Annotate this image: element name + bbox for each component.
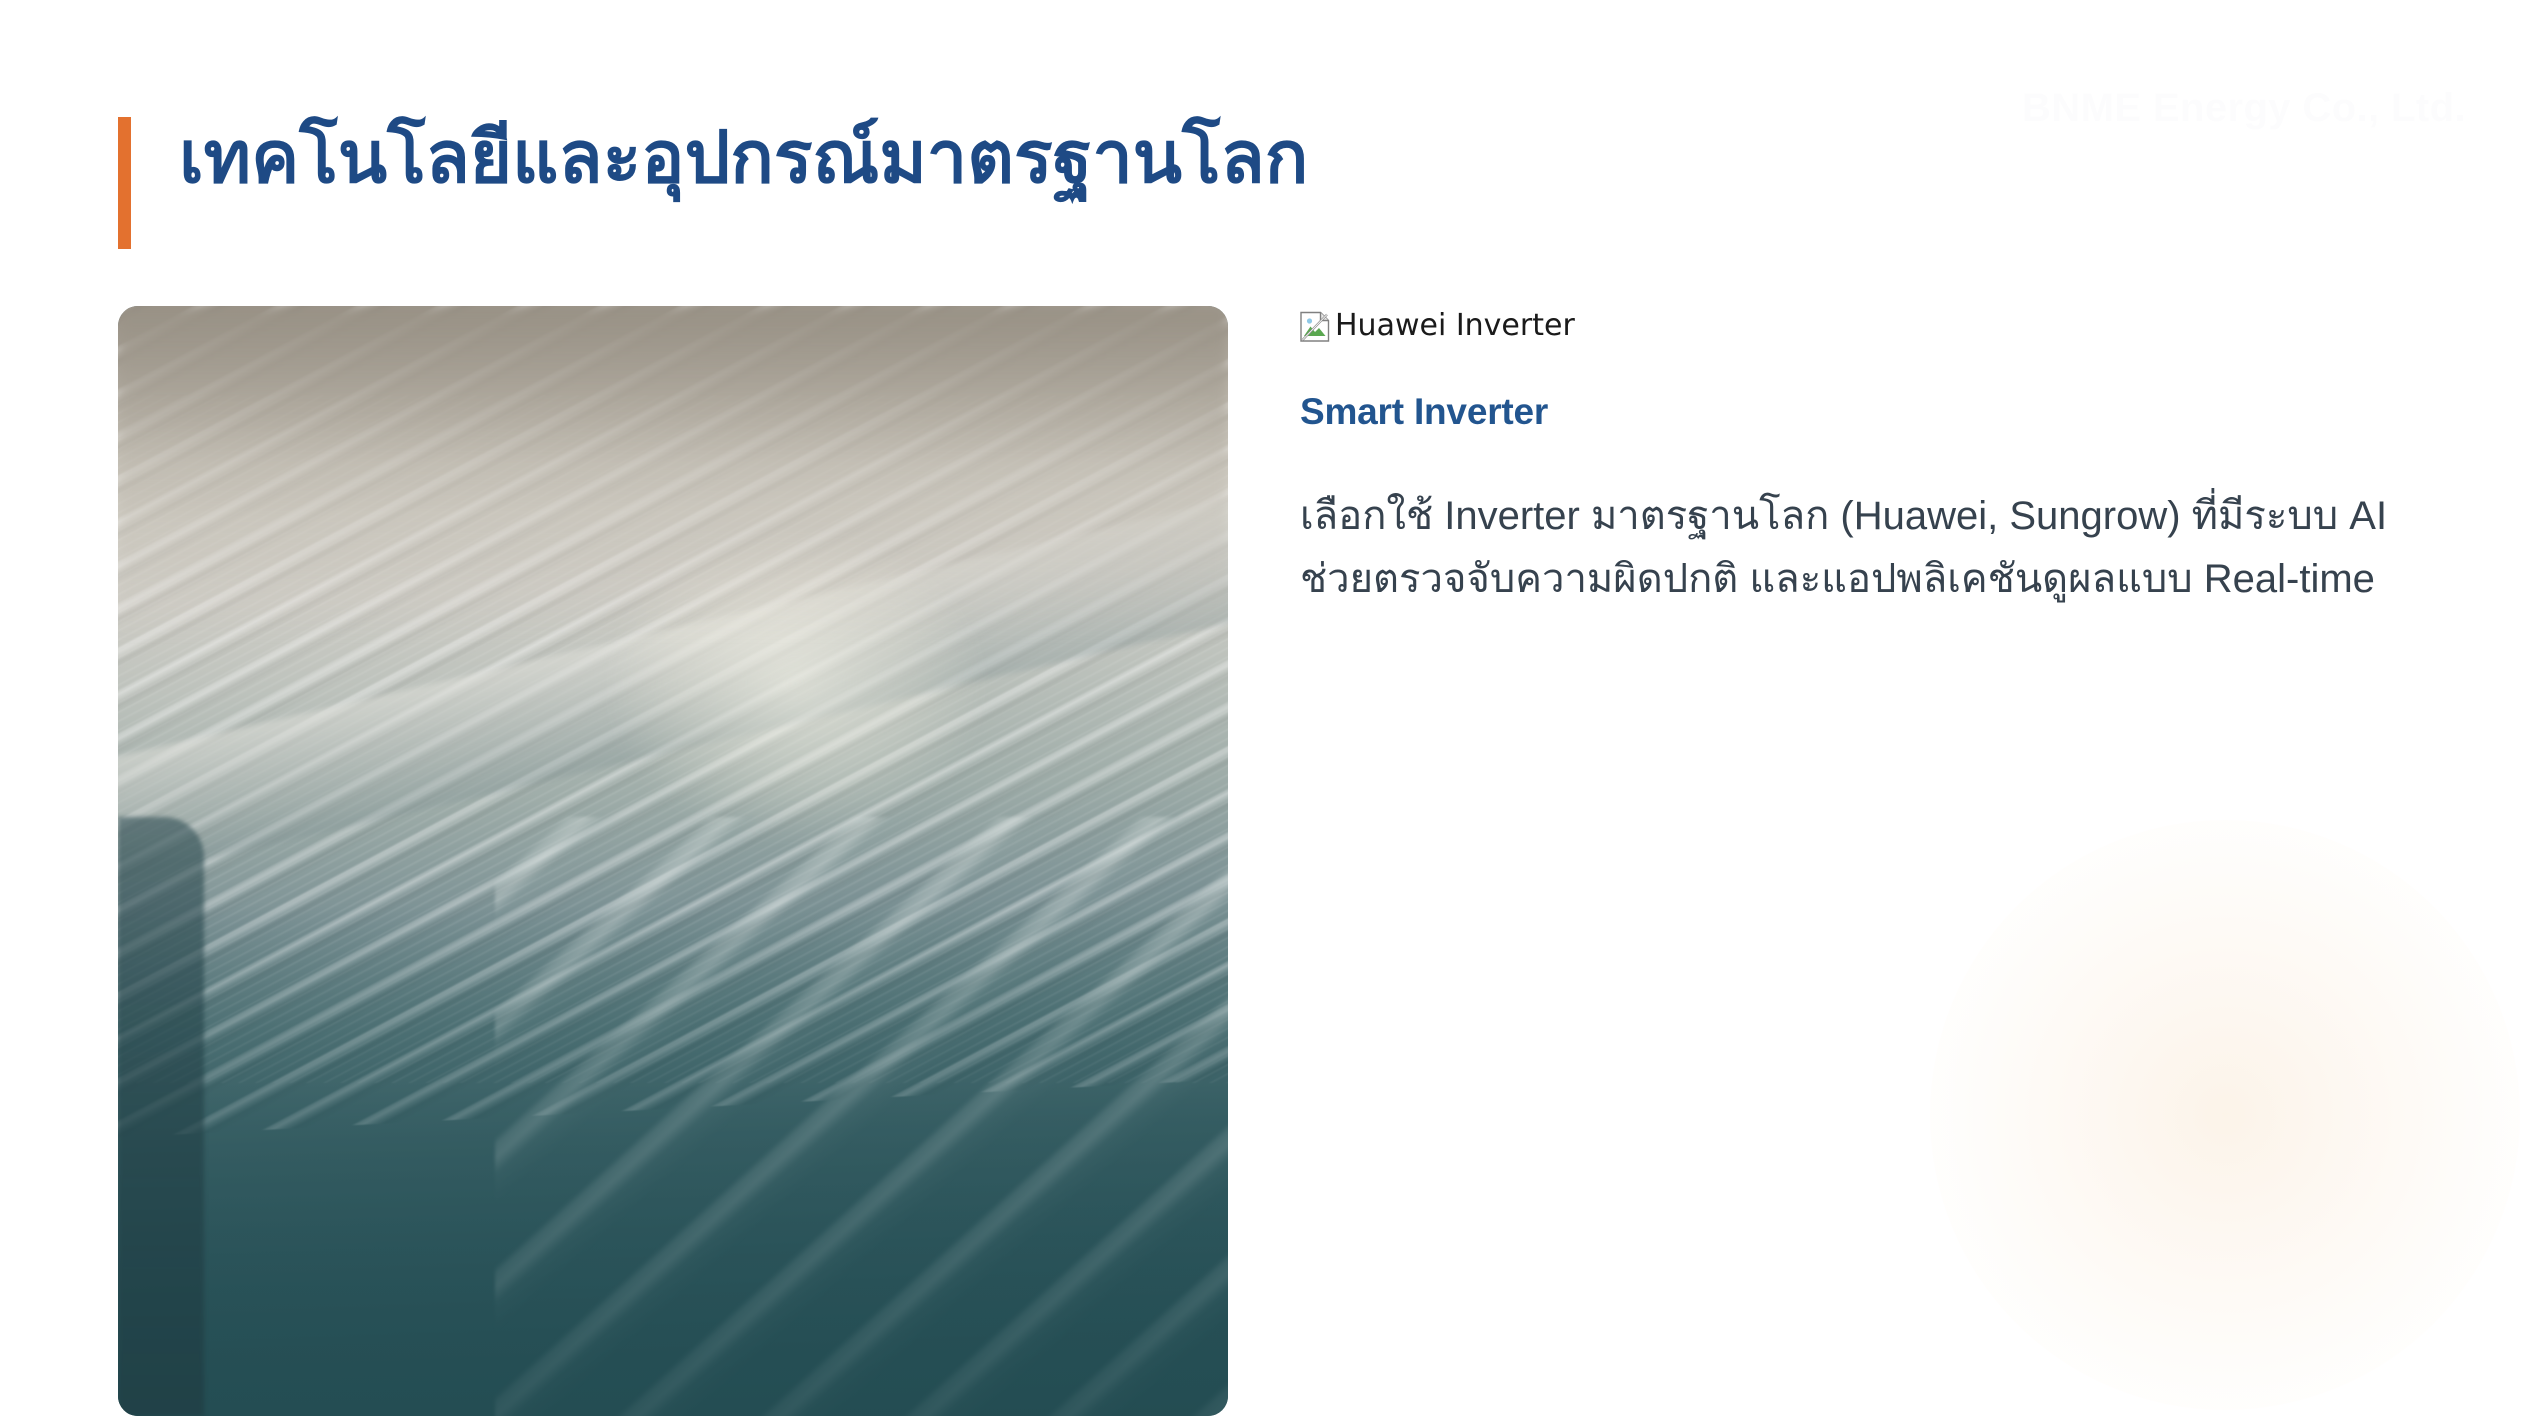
card-body-text: เลือกใช้ Inverter มาตรฐานโลก (Huawei, Su… <box>1300 485 2410 611</box>
inverter-info-column: Huawei Inverter Smart Inverter เลือกใช้ … <box>1300 306 2430 611</box>
broken-image-icon <box>1300 311 1330 342</box>
panel-bottom-shadow <box>118 905 1228 1416</box>
brand-watermark: BNME Energy Co., Ltd. <box>2022 86 2466 131</box>
broken-image-placeholder: Huawei Inverter <box>1300 306 2430 346</box>
panel-support-post <box>118 817 204 1416</box>
solar-panel-photo-surface <box>118 306 1228 1416</box>
card-heading: Smart Inverter <box>1300 391 2430 433</box>
page-title: เทคโนโลยีและอุปกรณ์มาตรฐานโลก <box>179 112 1308 204</box>
broken-image-alt-text: Huawei Inverter <box>1335 311 1575 341</box>
background-glow-watermark <box>1930 820 2520 1410</box>
title-accent-bar <box>118 117 131 249</box>
panel-top-haze <box>118 306 1228 639</box>
page-title-row: เทคโนโลยีและอุปกรณ์มาตรฐานโลก <box>118 112 1308 249</box>
solar-panel-photo <box>118 306 1228 1416</box>
